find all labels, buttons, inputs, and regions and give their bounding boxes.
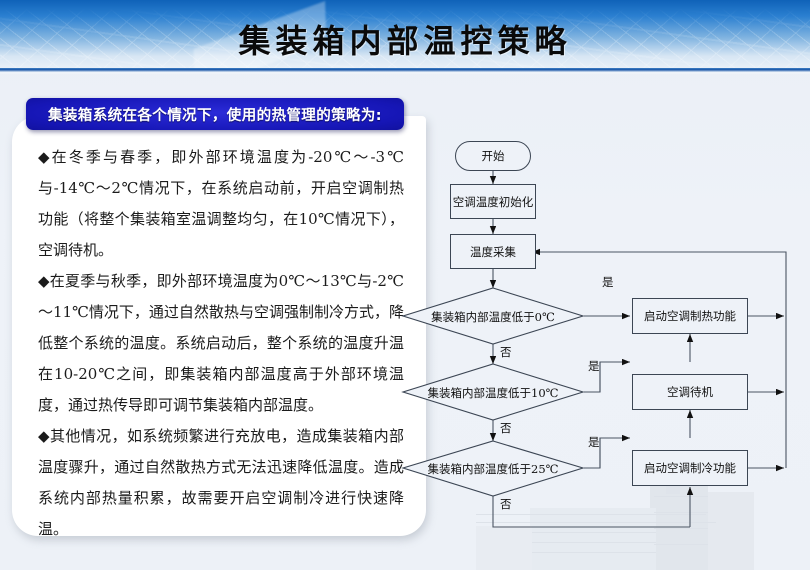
flow-node-sample-label: 温度采集 <box>470 245 516 259</box>
flow-node-start: 开始 <box>455 141 531 171</box>
callout-banner: 集装箱系统在各个情况下，使用的热管理的策略为: <box>26 98 404 130</box>
flow-edge-label-d3-no: 否 <box>500 496 512 512</box>
bullet-1: ◆在冬季与春季，即外部环境温度为-20℃～-3℃与-14℃～2℃情况下，在系统启… <box>38 142 404 266</box>
flow-edge-label-d2-no: 否 <box>500 420 512 436</box>
flow-decision-1-label: 集装箱内部温度低于0℃ <box>408 309 578 325</box>
flow-node-action-heat-label: 启动空调制热功能 <box>644 308 736 324</box>
flow-node-init-label: 空调温度初始化 <box>453 195 534 209</box>
bullet-2: ◆在夏季与秋季，即外部环境温度为0℃～13℃与-2℃～11℃情况下，通过自然散热… <box>38 266 404 421</box>
slide-header: 集装箱内部温控策略 <box>0 0 810 72</box>
text-panel-content: ◆在冬季与春季，即外部环境温度为-20℃～-3℃与-14℃～2℃情况下，在系统启… <box>38 142 404 545</box>
flow-node-action-heat: 启动空调制热功能 <box>632 298 748 334</box>
flow-edge-label-d1-no: 否 <box>500 344 512 360</box>
flow-decision-2-label: 集装箱内部温度低于10℃ <box>408 385 578 401</box>
header-divider-rule-secondary <box>0 72 810 74</box>
flow-node-action-standby: 空调待机 <box>632 374 748 410</box>
flow-decision-3-label: 集装箱内部温度低于25℃ <box>408 461 578 477</box>
flow-node-start-label: 开始 <box>482 148 505 164</box>
flow-node-init: 空调温度初始化 <box>450 184 536 219</box>
flow-node-action-cool-label: 启动空调制冷功能 <box>644 460 736 476</box>
flow-node-action-cool: 启动空调制冷功能 <box>632 450 748 486</box>
flow-edge-label-d1-yes: 是 <box>602 274 614 290</box>
callout-text: 集装箱系统在各个情况下，使用的热管理的策略为: <box>48 104 382 125</box>
flow-edge-label-d3-yes: 是 <box>588 434 600 450</box>
text-panel-card: ◆在冬季与春季，即外部环境温度为-20℃～-3℃与-14℃～2℃情况下，在系统启… <box>12 116 426 536</box>
page-title: 集装箱内部温控策略 <box>0 16 810 62</box>
flow-node-action-standby-label: 空调待机 <box>667 384 713 400</box>
bullet-3: ◆其他情况，如系统频繁进行充放电，造成集装箱内部温度骤升，通过自然散热方式无法迅… <box>38 421 404 545</box>
flow-node-sample: 温度采集 <box>450 234 536 269</box>
flow-edge-label-d2-yes: 是 <box>588 358 600 374</box>
